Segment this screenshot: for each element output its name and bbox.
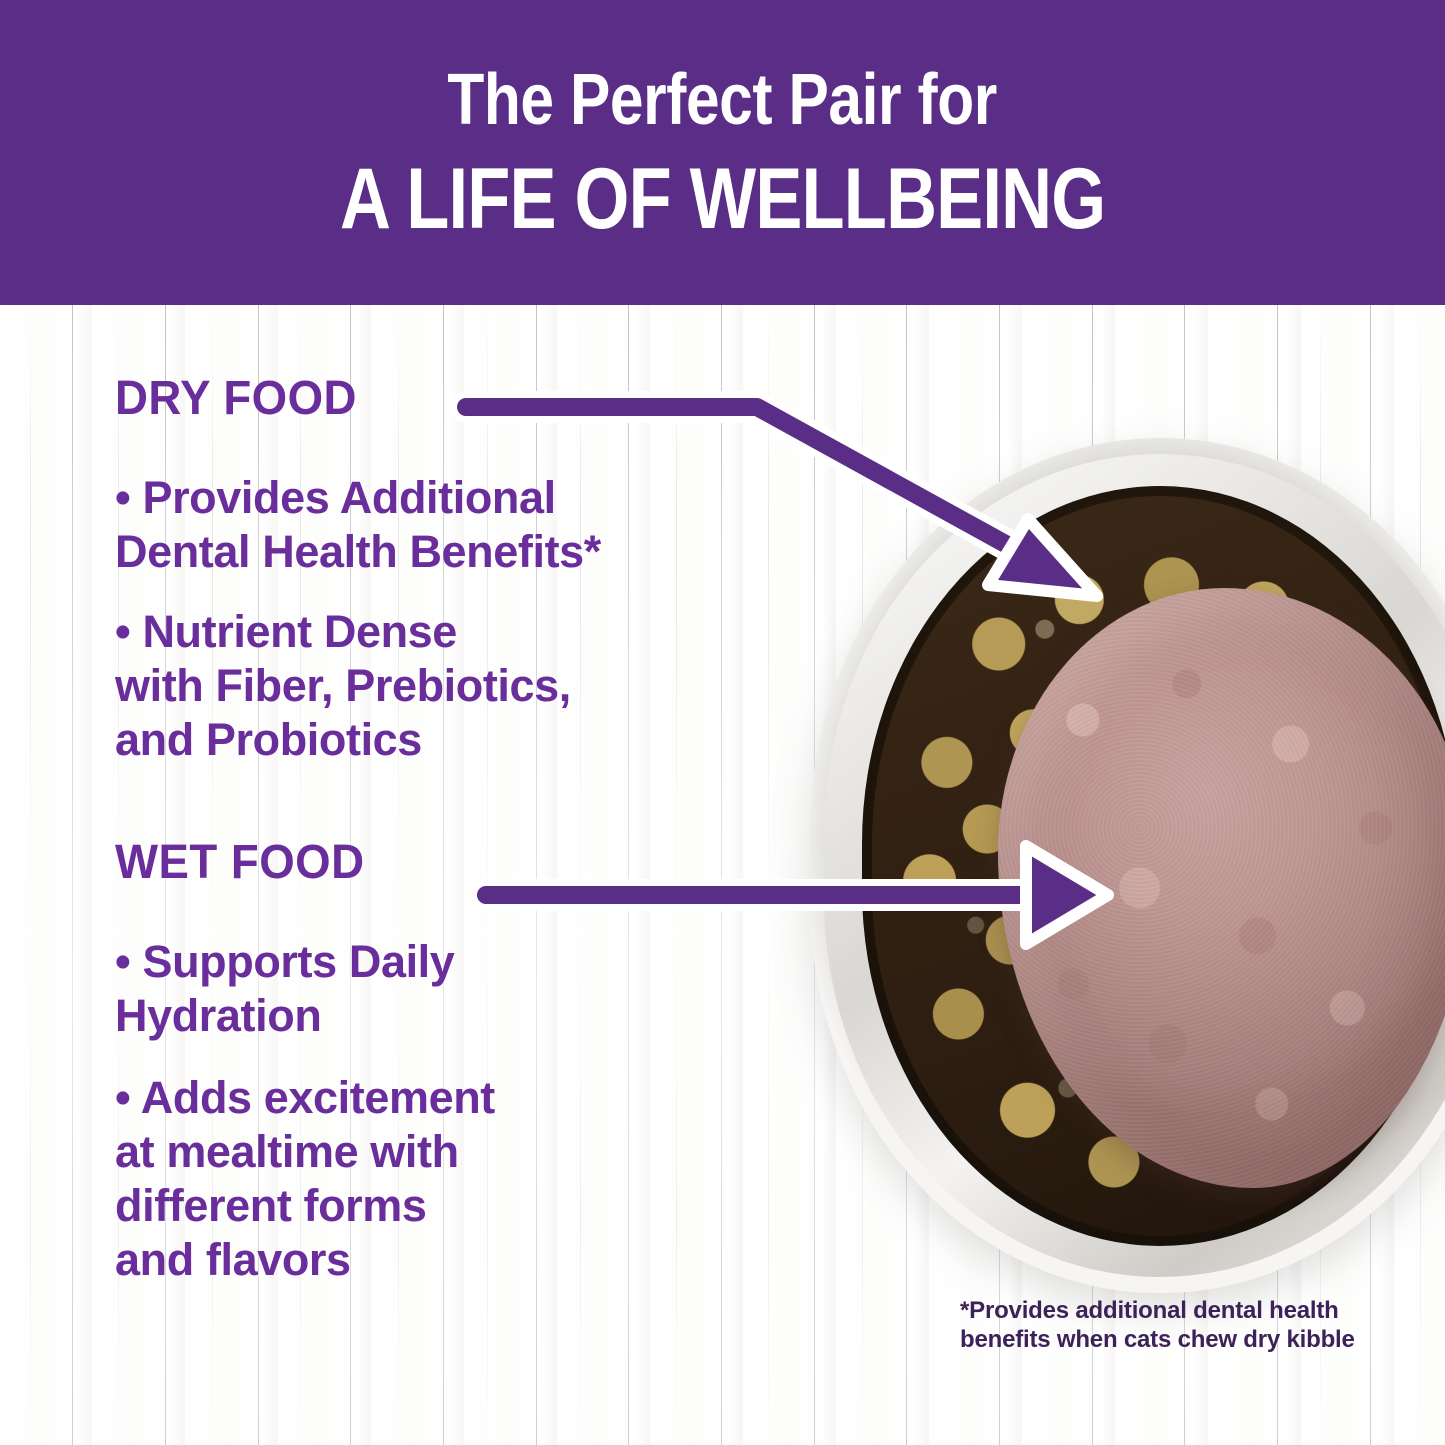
- bullet-wet-1-line2: Hydration: [115, 989, 815, 1043]
- bullet-dry-2-line3: and Probiotics: [115, 713, 815, 767]
- bullet-dry-1-line1: • Provides Additional: [115, 471, 815, 525]
- bullet-dry-1: • Provides Additional Dental Health Bene…: [115, 471, 815, 579]
- poster-canvas: The Perfect Pair for A LIFE OF WELLBEING…: [0, 0, 1445, 1445]
- benefits-copy: DRY FOOD • Provides Additional Dental He…: [115, 375, 815, 1287]
- bullet-dry-1-line2: Dental Health Benefits*: [115, 525, 815, 579]
- cat-food-bowl-photo: [810, 438, 1445, 1293]
- bullet-wet-1-line1: • Supports Daily: [115, 935, 815, 989]
- bullet-dry-2-line1: • Nutrient Dense: [115, 605, 815, 659]
- section-dry-food: DRY FOOD • Provides Additional Dental He…: [115, 375, 815, 767]
- section-title-dry-food: DRY FOOD: [115, 375, 780, 423]
- bullet-wet-1: • Supports Daily Hydration: [115, 935, 815, 1043]
- footnote: *Provides additional dental health benef…: [960, 1296, 1380, 1355]
- footnote-line1: *Provides additional dental health: [960, 1296, 1380, 1325]
- wet-food-pate: [998, 588, 1445, 1188]
- header-banner: The Perfect Pair for A LIFE OF WELLBEING: [0, 0, 1445, 305]
- bullet-wet-2-line2: at mealtime with: [115, 1125, 815, 1179]
- bullet-wet-2-line3: different forms: [115, 1179, 815, 1233]
- section-wet-food: WET FOOD • Supports Daily Hydration • Ad…: [115, 839, 815, 1287]
- header-title-line1: The Perfect Pair for: [448, 64, 998, 136]
- bullet-dry-2: • Nutrient Dense with Fiber, Prebiotics,…: [115, 605, 815, 767]
- bullet-wet-2-line1: • Adds excitement: [115, 1071, 815, 1125]
- section-title-wet-food: WET FOOD: [115, 839, 780, 887]
- bullet-wet-2-line4: and flavors: [115, 1233, 815, 1287]
- bullet-dry-2-line2: with Fiber, Prebiotics,: [115, 659, 815, 713]
- bullet-wet-2: • Adds excitement at mealtime with diffe…: [115, 1071, 815, 1287]
- footnote-line2: benefits when cats chew dry kibble: [960, 1325, 1380, 1354]
- header-title-line2: A LIFE OF WELLBEING: [340, 156, 1105, 242]
